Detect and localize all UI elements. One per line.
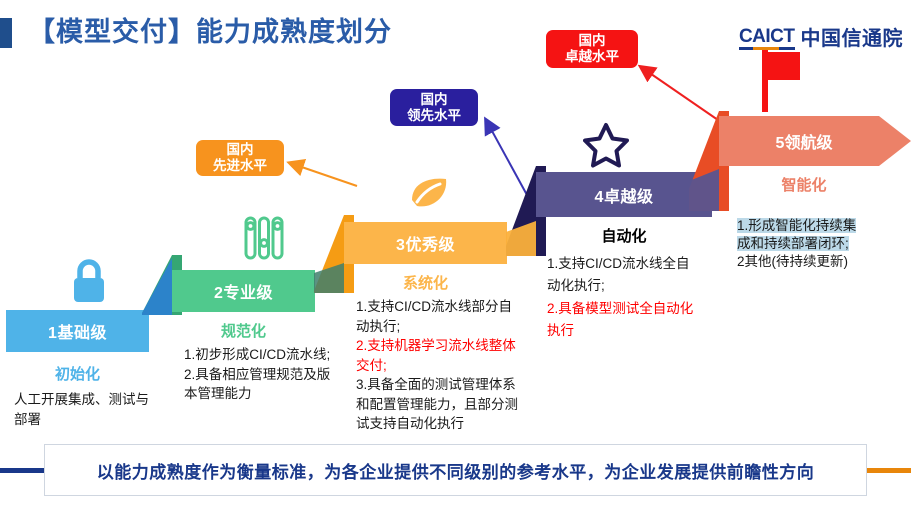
step-1-title: 1基础级: [6, 310, 149, 352]
step-1-sublabel: 初始化: [6, 363, 149, 384]
logo-chinese-name: 中国信通院: [801, 22, 904, 51]
step-4-desc-line: 1.支持CI/CD流水线全自: [547, 253, 723, 275]
callout-excellent-line2: 卓越水平: [565, 49, 619, 65]
step-3-desc-line: 2.支持机器学习流水线整体: [356, 336, 528, 356]
lock-icon: [68, 258, 110, 304]
step-3-desc-line: 交付;: [356, 356, 528, 376]
step-3-desc-line: 1.支持CI/CD流水线部分自: [356, 297, 528, 317]
step-5-desc-line: 1.形成智能化持续集: [737, 218, 856, 233]
step-1-block[interactable]: 1基础级: [6, 310, 149, 352]
step-3-desc-line: 3.具备全面的测试管理体系: [356, 375, 528, 395]
step-4-sublabel: 自动化: [536, 225, 712, 246]
step-5-block[interactable]: [719, 116, 911, 166]
logo-mark: CAICT: [739, 27, 795, 46]
slide-canvas: 【模型交付】能力成熟度划分 CAICT 中国信通院: [0, 0, 911, 510]
step-1-desc-line: 人工开展集成、测试与: [14, 390, 166, 410]
step-2-sublabel: 规范化: [172, 320, 315, 341]
bottom-banner: 以能力成熟度作为衡量标准，为各企业提供不同级别的参考水平，为企业发展提供前瞻性方…: [0, 444, 911, 496]
step-3-desc-line: 和配置管理能力，且部分测: [356, 395, 528, 415]
step-1-description: 人工开展集成、测试与 部署: [14, 390, 166, 429]
callout-excellent-line1: 国内: [579, 33, 606, 49]
callout-advanced-line2: 先进水平: [213, 158, 267, 174]
slide-header: 【模型交付】能力成熟度划分 CAICT 中国信通院: [0, 8, 911, 54]
callout-advanced[interactable]: 国内 先进水平: [196, 140, 284, 176]
step-1-desc-line: 部署: [14, 410, 166, 430]
step-2-desc-line: 本管理能力: [184, 384, 344, 404]
arrow-step3-to-advanced: [290, 163, 357, 186]
callout-leading-line2: 领先水平: [407, 108, 461, 124]
step-4-block[interactable]: 4卓越级: [536, 172, 712, 217]
step-4-desc-line: 执行: [547, 320, 723, 342]
step-3-sublabel: 系统化: [344, 272, 507, 293]
callout-advanced-line1: 国内: [227, 142, 254, 158]
step-3-description: 1.支持CI/CD流水线部分自 动执行; 2.支持机器学习流水线整体 交付; 3…: [356, 297, 528, 434]
step-4-desc-line: 2.具备模型测试全自动化: [547, 298, 723, 320]
banner-text: 以能力成熟度作为衡量标准，为各企业提供不同级别的参考水平，为企业发展提供前瞻性方…: [97, 458, 815, 483]
sliders-icon: [240, 216, 288, 260]
step-3-desc-line: 动执行;: [356, 317, 528, 337]
step-5-sublabel: 智能化: [719, 174, 889, 195]
step-2-title: 2专业级: [172, 270, 315, 312]
callout-leading[interactable]: 国内 领先水平: [390, 89, 478, 126]
step-5-description: 1.形成智能化持续集 成和持续部署闭环; 2其他(待持续更新): [737, 217, 897, 272]
step-5-desc-line: 成和持续部署闭环;: [737, 236, 849, 251]
star-icon: [583, 122, 629, 168]
step-4-title: 4卓越级: [536, 172, 712, 217]
logo-mark-text: CAICT: [739, 26, 795, 47]
step-4-desc-line: 动化执行;: [547, 275, 723, 297]
step-2-desc-line: 2.具备相应管理规范及版: [184, 365, 344, 385]
banner-box: 以能力成熟度作为衡量标准，为各企业提供不同级别的参考水平，为企业发展提供前瞻性方…: [44, 444, 867, 496]
page-title: 【模型交付】能力成熟度划分: [28, 10, 392, 49]
step-4-description: 1.支持CI/CD流水线全自 动化执行; 2.具备模型测试全自动化 执行: [547, 253, 723, 342]
step-5-desc-line: 2其他(待持续更新): [737, 253, 897, 271]
caict-logo: CAICT 中国信通院: [739, 22, 903, 51]
step-2-description: 1.初步形成CI/CD流水线; 2.具备相应管理规范及版 本管理能力: [184, 345, 344, 404]
callout-excellent[interactable]: 国内 卓越水平: [546, 30, 638, 68]
step-2-desc-line: 1.初步形成CI/CD流水线;: [184, 345, 344, 365]
title-accent-bar: [0, 18, 12, 48]
callout-leading-line1: 国内: [421, 92, 448, 108]
step-3-title: 3优秀级: [344, 222, 507, 264]
step-3-desc-line: 试支持自动化执行: [356, 414, 528, 434]
flag-icon: [760, 50, 802, 112]
step-3-block[interactable]: 3优秀级: [344, 222, 507, 264]
step-2-block[interactable]: 2专业级: [172, 270, 315, 312]
leaf-icon: [407, 175, 451, 211]
